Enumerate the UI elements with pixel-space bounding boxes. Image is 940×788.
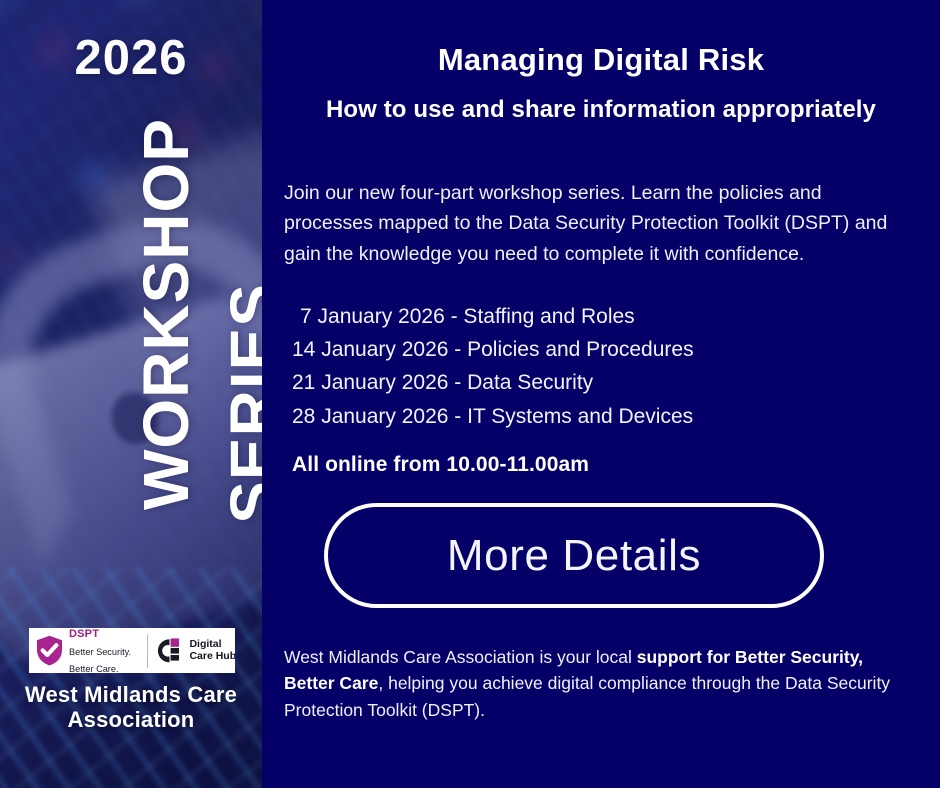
list-item: 28 January 2026 - IT Systems and Devices xyxy=(292,400,912,433)
more-details-button[interactable]: More Details xyxy=(324,503,824,608)
digital-care-hub-text: Digital Care Hub xyxy=(189,639,235,662)
vertical-word-workshop: WORKSHOP xyxy=(135,118,198,510)
organisation-name: West Midlands Care Association xyxy=(6,683,256,732)
session-time-note: All online from 10.00-11.00am xyxy=(292,453,589,477)
dspt-tagline-line2: Better Care. xyxy=(69,664,119,673)
cta-container: More Details xyxy=(324,503,824,608)
digital-care-hub-line1: Digital xyxy=(189,638,221,650)
dspt-tagline-line1: Better Security. xyxy=(69,647,131,657)
footer-text-part1: West Midlands Care Association is your l… xyxy=(284,647,637,667)
page-subtitle: How to use and share information appropr… xyxy=(272,96,930,124)
left-panel: 2026 WORKSHOP SERIES DSPT Better Securit… xyxy=(0,0,262,788)
vertical-word-series: SERIES xyxy=(222,283,262,524)
page-title: Managing Digital Risk xyxy=(272,42,930,78)
logo-divider xyxy=(147,634,148,668)
shield-check-icon xyxy=(36,635,63,666)
intro-paragraph: Join our new four-part workshop series. … xyxy=(284,178,892,270)
dspt-logo: DSPT Better Security. Better Care. xyxy=(29,628,145,673)
poster-canvas: 2026 WORKSHOP SERIES DSPT Better Securit… xyxy=(0,0,940,788)
list-item: 21 January 2026 - Data Security xyxy=(292,366,912,399)
dspt-title: DSPT xyxy=(69,628,99,640)
digital-care-hub-logo: Digital Care Hub xyxy=(154,636,235,666)
organisation-name-line1: West Midlands Care xyxy=(25,682,237,707)
year-label: 2026 xyxy=(0,34,262,83)
vertical-title-group: WORKSHOP SERIES xyxy=(0,118,262,618)
digital-care-hub-line2: Care Hub xyxy=(189,650,235,662)
footer-description: West Midlands Care Association is your l… xyxy=(284,644,914,724)
dspt-logo-text: DSPT Better Security. Better Care. xyxy=(69,628,145,673)
session-list: 7 January 2026 - Staffing and Roles 14 J… xyxy=(292,300,912,433)
partner-logo-strip: DSPT Better Security. Better Care. Di xyxy=(29,628,235,673)
right-panel: Managing Digital Risk How to use and sha… xyxy=(262,0,940,788)
organisation-name-line2: Association xyxy=(68,707,195,732)
list-item: 14 January 2026 - Policies and Procedure… xyxy=(292,333,912,366)
list-item: 7 January 2026 - Staffing and Roles xyxy=(292,300,912,333)
digital-care-hub-mark-icon xyxy=(154,636,184,666)
